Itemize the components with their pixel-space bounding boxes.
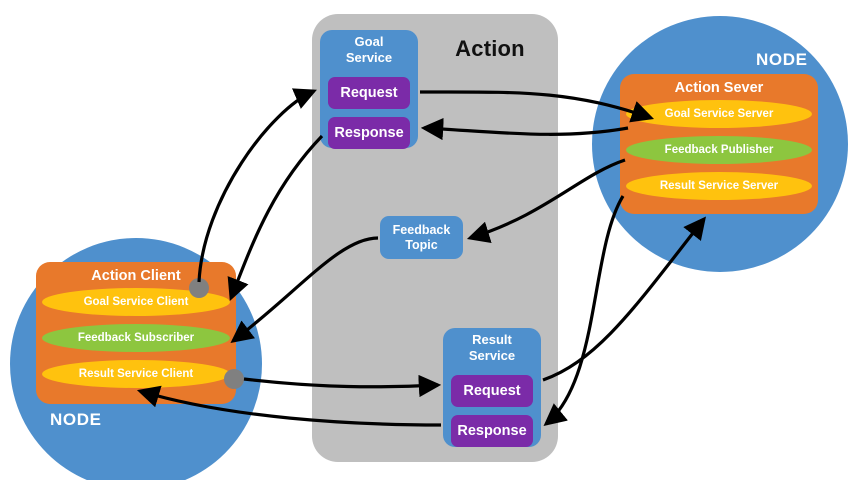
result-service-box: Result Service Request Response	[443, 328, 541, 447]
pill-goal-service-server[interactable]: Goal Service Server	[626, 100, 812, 128]
connector-dot-goal-client	[189, 278, 209, 298]
goal-service-title-line2: Service	[346, 50, 392, 65]
feedback-topic-box[interactable]: Feedback Topic	[380, 216, 463, 259]
client-node-label: NODE	[50, 410, 102, 430]
action-panel-title: Action	[430, 36, 550, 62]
goal-service-response[interactable]: Response	[328, 117, 410, 149]
result-service-title-line1: Result	[472, 332, 512, 347]
arrow-goal-response-to-client	[231, 136, 322, 298]
result-service-title: Result Service	[443, 332, 541, 364]
goal-service-request[interactable]: Request	[328, 77, 410, 109]
connector-dot-result-client	[224, 369, 244, 389]
action-server-title: Action Sever	[620, 80, 818, 96]
result-service-response[interactable]: Response	[451, 415, 533, 447]
pill-result-service-client[interactable]: Result Service Client	[42, 360, 230, 388]
feedback-topic-line1: Feedback	[393, 223, 451, 238]
server-node-label: NODE	[756, 50, 808, 70]
result-service-request[interactable]: Request	[451, 375, 533, 407]
arrow-goal-client-to-request	[199, 91, 314, 282]
pill-feedback-publisher[interactable]: Feedback Publisher	[626, 136, 812, 164]
diagram-canvas: Action NODE Action Client Goal Service C…	[0, 0, 854, 480]
result-service-title-line2: Service	[469, 348, 515, 363]
pill-result-service-server[interactable]: Result Service Server	[626, 172, 812, 200]
goal-service-title: Goal Service	[320, 34, 418, 66]
action-server-box: Action Sever Goal Service Server Feedbac…	[620, 74, 818, 214]
feedback-topic-line2: Topic	[405, 238, 437, 253]
goal-service-title-line1: Goal	[355, 34, 384, 49]
pill-feedback-subscriber[interactable]: Feedback Subscriber	[42, 324, 230, 352]
goal-service-box: Goal Service Request Response	[320, 30, 418, 148]
